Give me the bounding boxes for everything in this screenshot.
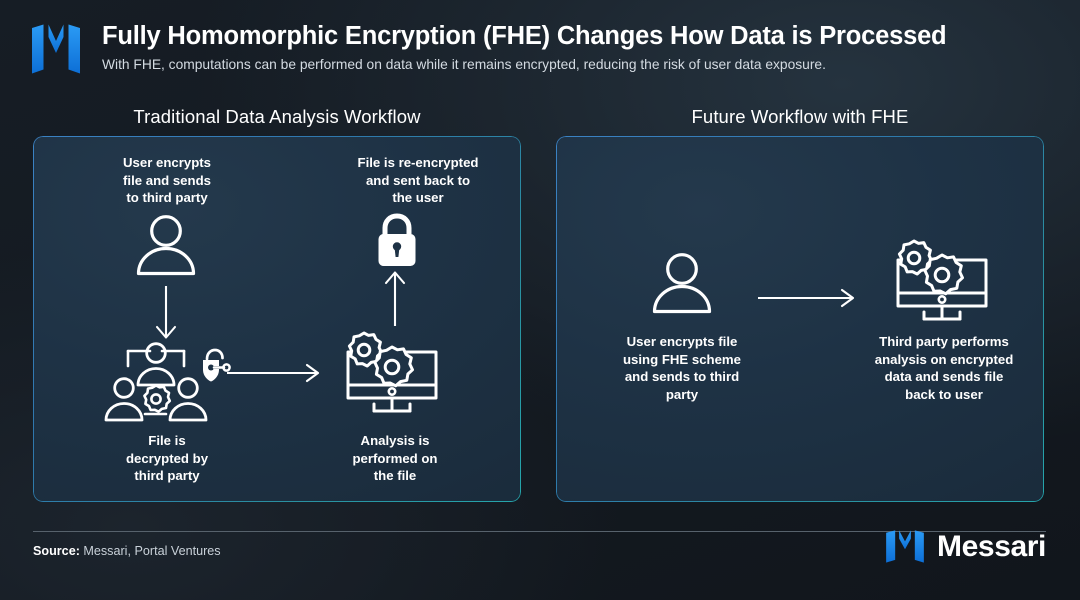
header-text-group: Fully Homomorphic Encryption (FHE) Chang… [102, 22, 1080, 74]
caption-user-encrypts: User encrypts file and sends to third pa… [77, 154, 257, 207]
panel-title-traditional: Traditional Data Analysis Workflow [33, 106, 521, 128]
padlock-locked-icon [373, 213, 421, 269]
caption-line: back to user [846, 386, 1042, 404]
caption-line: third party [77, 467, 257, 485]
panel-traditional-workflow: User encrypts file and sends to third pa… [33, 136, 521, 502]
caption-third-party-analysis: Third party performs analysis on encrypt… [846, 333, 1042, 403]
source-label: Source: [33, 544, 80, 558]
caption-file-re-encrypted: File is re-encrypted and sent back to th… [303, 154, 521, 207]
caption-file-decrypted: File is decrypted by third party [77, 432, 257, 485]
infographic-canvas: Fully Homomorphic Encryption (FHE) Chang… [0, 0, 1080, 600]
panel-title-future: Future Workflow with FHE [556, 106, 1044, 128]
caption-line: to third party [77, 189, 257, 207]
page-title: Fully Homomorphic Encryption (FHE) Chang… [102, 22, 1080, 51]
panel-future-workflow: User encrypts file using FHE scheme and … [556, 136, 1044, 502]
caption-line: File is re-encrypted [303, 154, 521, 172]
messari-m-logo-icon [884, 530, 926, 563]
caption-line: analysis on encrypted [846, 351, 1042, 369]
monitor-with-gears-icon [890, 236, 994, 328]
group-with-gear-and-unlocked-padlock-icon [102, 341, 237, 426]
caption-line: file and sends [77, 172, 257, 190]
caption-analysis-performed: Analysis is performed on the file [305, 432, 485, 485]
arrow-right-icon [756, 286, 860, 310]
header: Fully Homomorphic Encryption (FHE) Chang… [0, 0, 1080, 95]
footer-brand: Messari [884, 530, 1046, 563]
person-icon [649, 252, 715, 314]
caption-line: using FHE scheme [592, 351, 772, 369]
caption-line: decrypted by [77, 450, 257, 468]
arrow-right-icon [225, 361, 325, 385]
caption-line: Analysis is [305, 432, 485, 450]
brand-wordmark: Messari [937, 532, 1046, 562]
caption-line: performed on [305, 450, 485, 468]
caption-line: User encrypts file [592, 333, 772, 351]
caption-line: User encrypts [77, 154, 257, 172]
page-subtitle: With FHE, computations can be performed … [102, 57, 1080, 74]
caption-line: File is [77, 432, 257, 450]
caption-line: the user [303, 189, 521, 207]
monitor-with-gears-icon [340, 328, 444, 420]
caption-line: Third party performs [846, 333, 1042, 351]
arrow-up-icon [374, 268, 416, 330]
arrow-down-icon [145, 284, 187, 344]
messari-m-logo-icon [30, 24, 82, 74]
caption-line: and sends to third [592, 368, 772, 386]
caption-line: data and sends file [846, 368, 1042, 386]
caption-line: the file [305, 467, 485, 485]
caption-user-encrypts-fhe: User encrypts file using FHE scheme and … [592, 333, 772, 403]
person-icon [133, 214, 199, 276]
caption-line: party [592, 386, 772, 404]
caption-line: and sent back to [303, 172, 521, 190]
source-value: Messari, Portal Ventures [80, 544, 221, 558]
source-attribution: Source: Messari, Portal Ventures [33, 544, 221, 558]
